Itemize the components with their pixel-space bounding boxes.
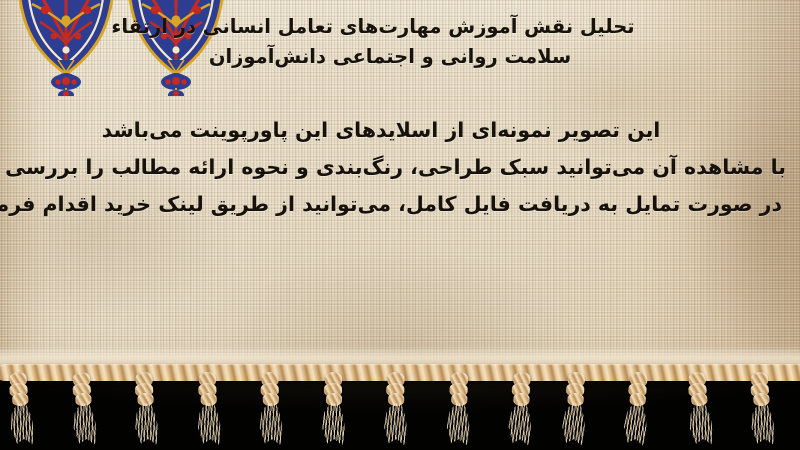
- tassel-brush: [381, 403, 410, 445]
- slide-title: تحلیل نقش آموزش مهارت‌های تعامل انسانی د…: [20, 12, 782, 72]
- fringe-tassel: [1, 371, 41, 447]
- slide-body-line-1: این تصویر نمونه‌ای از اسلایدهای این پاور…: [8, 112, 790, 149]
- tassel-brush: [319, 403, 347, 445]
- tassel-brush: [193, 403, 222, 446]
- slide-title-line-1: تحلیل نقش آموزش مهارت‌های تعامل انسانی د…: [20, 12, 782, 42]
- tassel-brush: [505, 402, 535, 445]
- tassel-brush: [747, 402, 778, 446]
- fringe-tassel: [618, 371, 658, 447]
- tassel-brush: [620, 402, 651, 446]
- fringe-tassel: [317, 372, 351, 446]
- fringe-tassel: [254, 372, 289, 447]
- tassel-brush: [256, 403, 285, 445]
- slide-body-text: این تصویر نمونه‌ای از اسلایدهای این پاور…: [8, 112, 790, 223]
- fringe-tassel: [556, 371, 595, 447]
- tassel-brush: [131, 402, 161, 445]
- tassel-brush: [6, 402, 37, 446]
- presentation-slide: تحلیل نقش آموزش مهارت‌های تعامل انسانی د…: [0, 0, 800, 450]
- fringe-tassel: [503, 371, 540, 447]
- slide-body-line-3: در صورت تمایل به دریافت فایل کامل، می‌تو…: [8, 186, 790, 223]
- fringe-tassel: [64, 371, 103, 447]
- carpet-fringe-border: [0, 346, 800, 450]
- tassel-brush: [684, 402, 715, 446]
- tassel-brush: [558, 402, 589, 446]
- tassel-brush: [443, 403, 472, 446]
- fringe-tassel: [441, 371, 477, 446]
- fringe-tassel: [680, 371, 720, 447]
- slide-body-line-2: با مشاهده آن می‌توانید سبک طراحی، رنگ‌بن…: [8, 149, 790, 186]
- tassel-brush: [68, 402, 99, 446]
- fringe-tassel: [743, 371, 782, 447]
- fringe-tassel: [127, 371, 164, 447]
- fringe-tassel: [379, 372, 414, 447]
- slide-title-line-2: سلامت روانی و اجتماعی دانش‌آموزان: [20, 42, 782, 72]
- fringe-tassel: [190, 371, 226, 446]
